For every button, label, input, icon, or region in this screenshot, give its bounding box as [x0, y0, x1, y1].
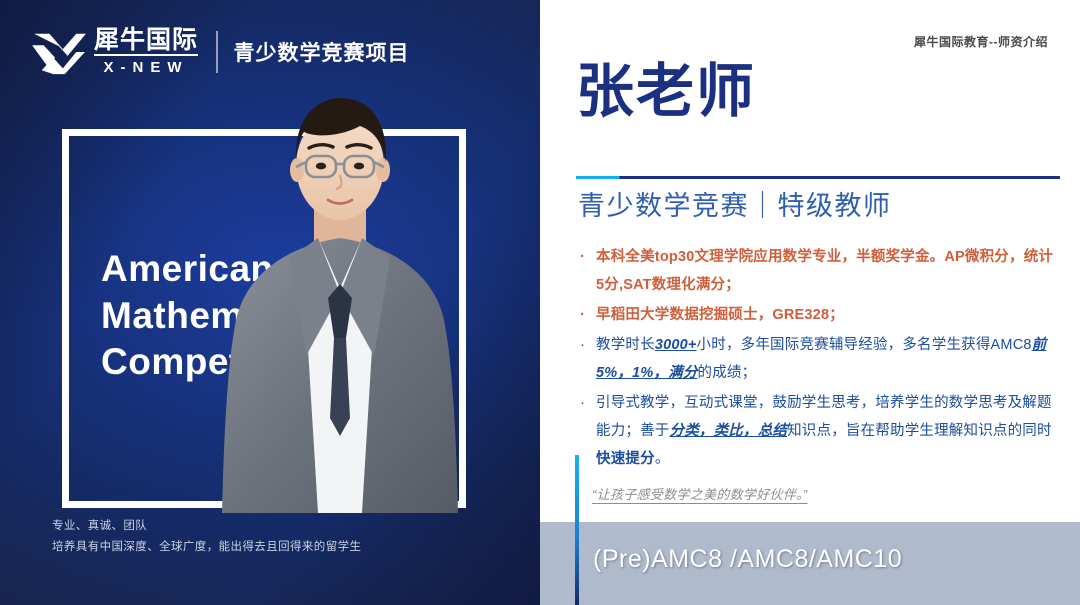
credential-text: 本科全美top30文理学院应用数学专业，半额奖学金。AP微积分，统计5分,SAT… [596, 243, 1060, 299]
page-kicker: 犀牛国际教育--师资介绍 [914, 33, 1048, 50]
right-panel: 犀牛国际教育--师资介绍 张老师 青少数学竞赛｜特级教师 ·本科全美top30文… [540, 0, 1080, 605]
bullet-marker-icon: · [576, 243, 596, 299]
tagline-line-2: 培养具有中国深度、全球广度，能出得去且回得来的留学生 [52, 537, 361, 558]
tagline-line-1: 专业、真诚、团队 [52, 516, 361, 537]
teacher-portrait [210, 88, 470, 513]
emphasis-segment: 快速提分 [596, 451, 655, 467]
credential-item: ·早稻田大学数据挖掘硕士，GRE328； [576, 301, 1060, 329]
text-segment: 。 [655, 451, 670, 467]
credential-text: 教学时长3000+小时，多年国际竞赛辅导经验，多名学生获得AMC8前5%，1%，… [596, 331, 1060, 387]
page-title: 张老师 [576, 63, 756, 121]
text-segment: 早稻田大学数据挖掘硕士，GRE328； [596, 307, 844, 323]
emphasis-segment: 3000+ [655, 337, 697, 353]
emphasis-segment: 分类，类比，总结 [670, 423, 788, 439]
text-segment: 知识点，旨在帮助学生理解知识点的同时 [787, 423, 1052, 439]
credential-text: 早稻田大学数据挖掘硕士，GRE328； [596, 301, 844, 329]
logo-divider [216, 31, 218, 73]
text-segment: 小时，多年国际竞赛辅导经验，多名学生获得AMC8 [697, 337, 1032, 353]
brand-logo-group: 犀牛国际 X-NEW 青少数学竞赛项目 [30, 27, 410, 76]
course-list-label: (Pre)AMC8 /AMC8/AMC10 [593, 545, 902, 574]
credential-text: 引导式教学，互动式课堂，鼓励学生思考，培养学生的数学思考及解题能力；善于分类，类… [596, 389, 1060, 473]
credential-item: ·本科全美top30文理学院应用数学专业，半额奖学金。AP微积分，统计5分,SA… [576, 243, 1060, 299]
title-rule [576, 176, 1060, 179]
brand-wordmark: 犀牛国际 X-NEW [94, 27, 198, 76]
bullet-marker-icon: · [576, 301, 596, 329]
left-panel: 犀牛国际 X-NEW 青少数学竞赛项目 American Mathematics… [0, 0, 540, 605]
slide-canvas: 犀牛国际 X-NEW 青少数学竞赛项目 American Mathematics… [0, 0, 1080, 605]
credentials-list: ·本科全美top30文理学院应用数学专业，半额奖学金。AP微积分，统计5分,SA… [576, 243, 1060, 475]
brand-name-cn: 犀牛国际 [94, 27, 198, 56]
teacher-quote: “让孩子感受数学之美的数学好伙伴。” [592, 484, 922, 503]
cyan-accent-bar [575, 455, 579, 605]
text-segment: 的成绩； [698, 365, 757, 381]
page-subtitle: 青少数学竞赛｜特级教师 [578, 189, 892, 224]
program-tag: 青少数学竞赛项目 [234, 37, 410, 67]
text-segment: 本科全美top30文理学院应用数学专业，半额奖学金。AP微积分，统计5分,SAT… [596, 249, 1053, 293]
bullet-marker-icon: · [576, 331, 596, 387]
left-tagline: 专业、真诚、团队 培养具有中国深度、全球广度，能出得去且回得来的留学生 [52, 516, 361, 559]
x-new-logo-icon [30, 28, 88, 76]
text-segment: 教学时长 [596, 337, 655, 353]
bullet-marker-icon: · [576, 389, 596, 473]
brand-name-en: X-NEW [94, 59, 198, 76]
credential-item: ·教学时长3000+小时，多年国际竞赛辅导经验，多名学生获得AMC8前5%，1%… [576, 331, 1060, 387]
credential-item: ·引导式教学，互动式课堂，鼓励学生思考，培养学生的数学思考及解题能力；善于分类，… [576, 389, 1060, 473]
